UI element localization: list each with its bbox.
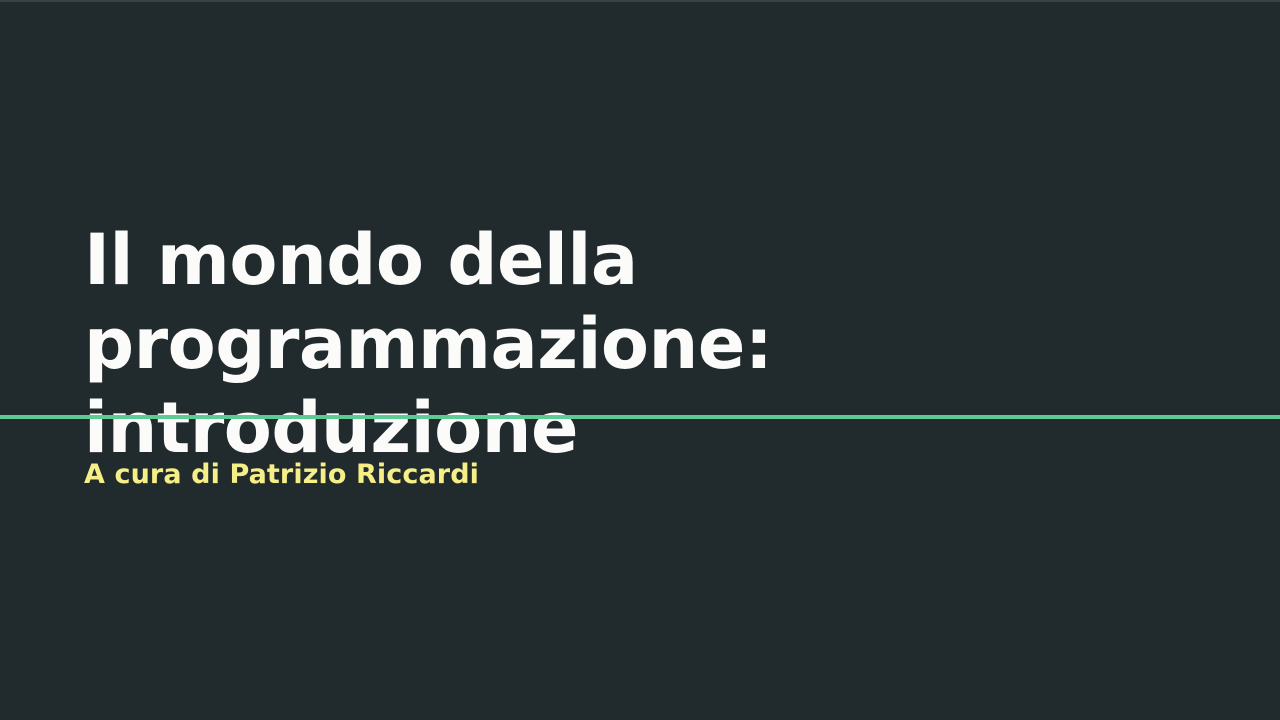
slide-subtitle: A cura di Patrizio Riccardi: [84, 458, 1184, 492]
presentation-slide: Il mondo della programmazione: introduzi…: [0, 0, 1280, 720]
accent-divider-line: [0, 415, 1280, 419]
slide-title: Il mondo della programmazione: introduzi…: [84, 218, 1184, 470]
top-edge-divider: [0, 0, 1280, 2]
subtitle-block: A cura di Patrizio Riccardi: [84, 458, 1184, 492]
title-block: Il mondo della programmazione: introduzi…: [84, 218, 1184, 470]
